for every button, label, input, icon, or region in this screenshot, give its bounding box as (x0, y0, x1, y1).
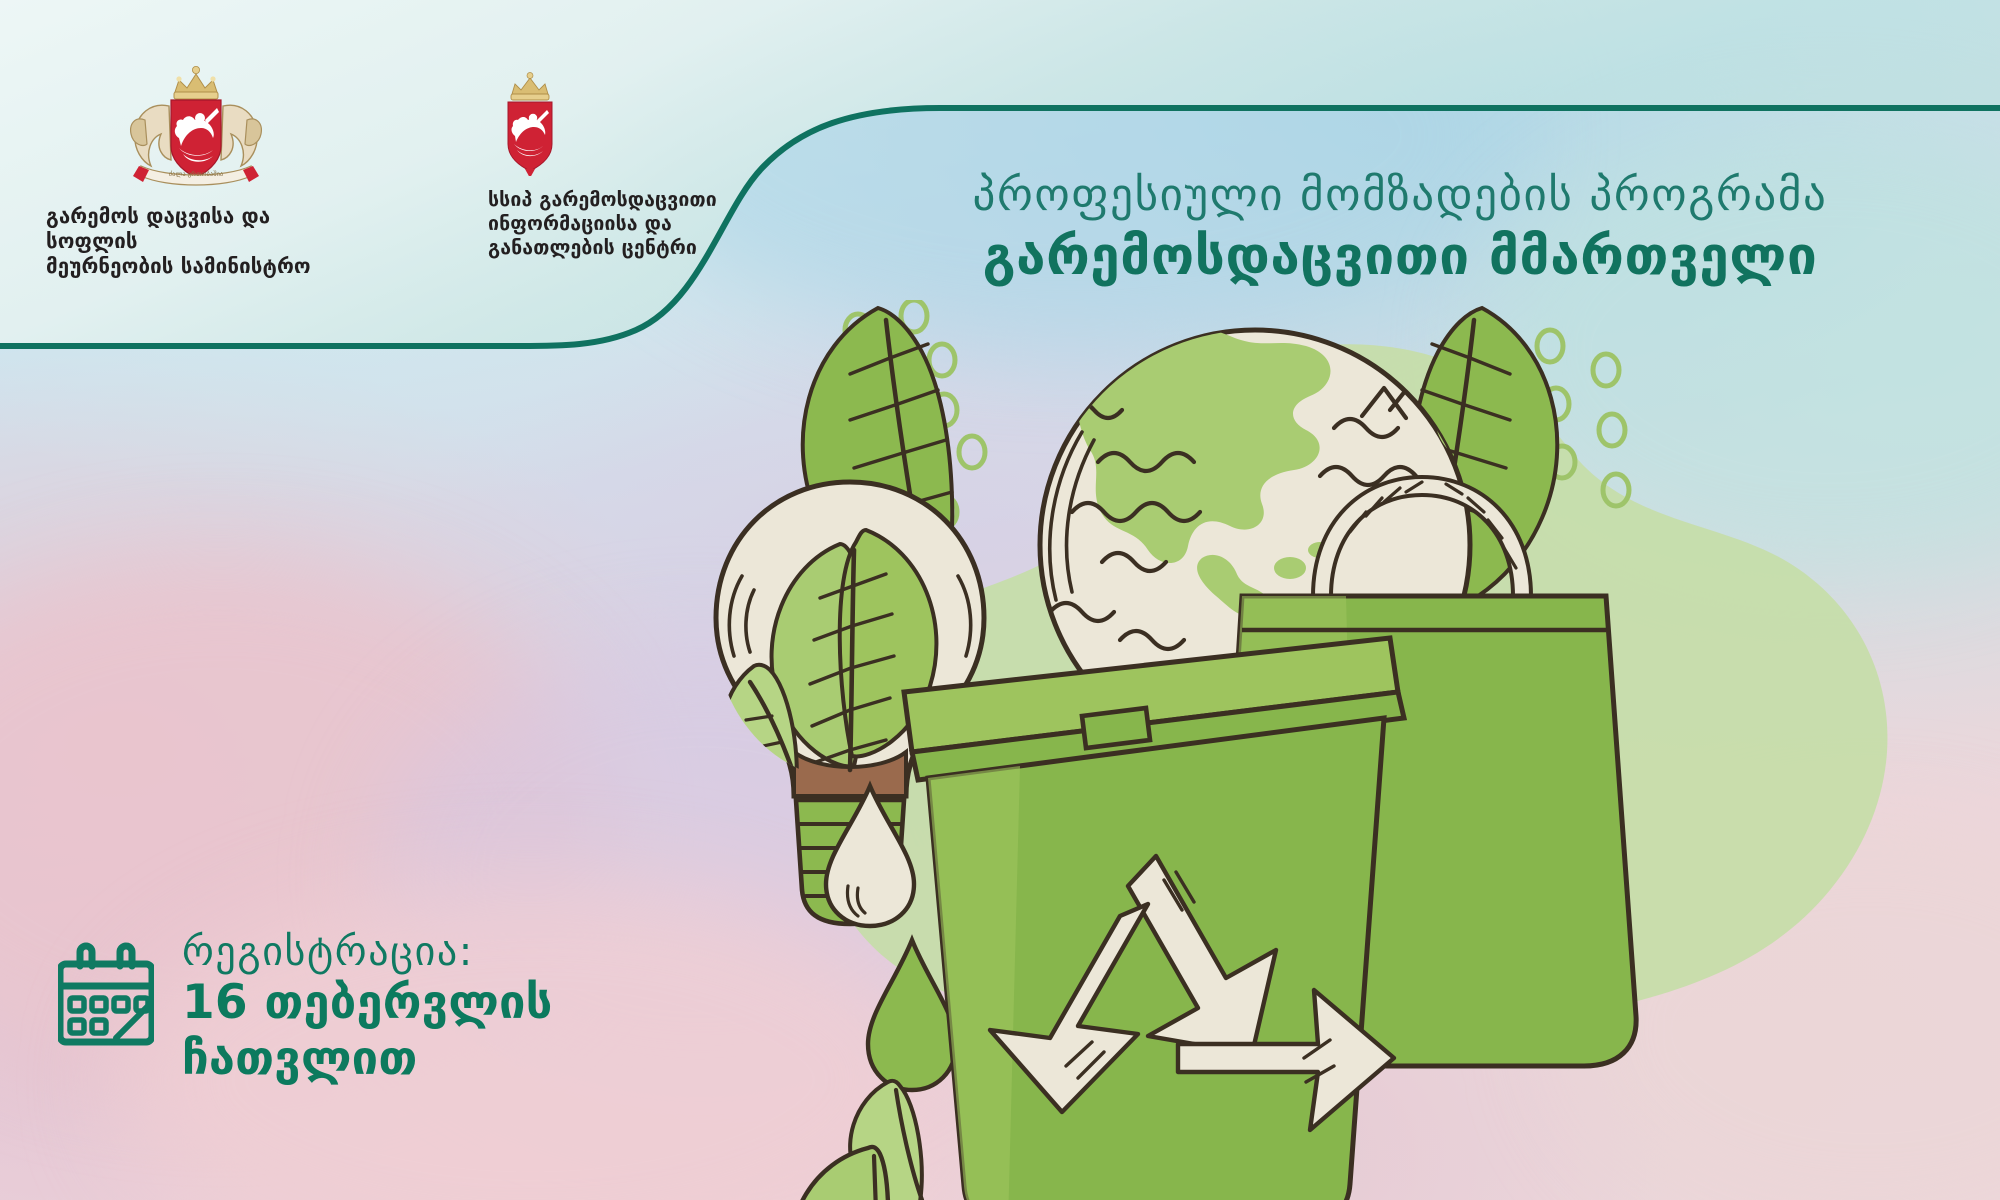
ministry-logo-line2: მეურნეობის სამინისტრო (46, 254, 346, 279)
registration-date-line2: ჩათვლით (182, 1032, 553, 1086)
georgia-coat-of-arms-icon: ძალა ერთობაშია (46, 62, 346, 190)
center-logo-block: სსიპ გარემოსდაცვითი ინფორმაციისა და განა… (488, 72, 838, 259)
registration-date-line1: 16 თებერვლის (182, 976, 553, 1030)
calendar-icon (58, 942, 154, 1050)
banner-root: ძალა ერთობაშია გარემოს დაცვისა და სოფლის… (0, 0, 2000, 1200)
ministry-logo-block: ძალა ერთობაშია გარემოს დაცვისა და სოფლის… (46, 62, 346, 279)
ministry-logo-line1: გარემოს დაცვისა და სოფლის (46, 204, 346, 254)
title-line-1: პროფესიული მომზადების პროგრამა (880, 170, 1920, 220)
svg-text:ძალა ერთობაშია: ძალა ერთობაშია (169, 169, 223, 178)
center-logo-text: სსიპ გარემოსდაცვითი ინფორმაციისა და განა… (488, 188, 838, 259)
title-line-2: გარემოსდაცვითი მმართველი (880, 226, 1920, 287)
center-logo-line1: სსიპ გარემოსდაცვითი (488, 188, 838, 212)
center-logo-line3: განათლების ცენტრი (488, 236, 838, 260)
registration-label: რეგისტრაცია: (182, 930, 553, 974)
center-logo-line2: ინფორმაციისა და (488, 212, 838, 236)
page-title: პროფესიული მომზადების პროგრამა გარემოსდა… (880, 170, 1920, 288)
leaf-icon-lower-left (791, 1147, 888, 1200)
ministry-logo-text: გარემოს დაცვისა და სოფლის მეურნეობის სამ… (46, 204, 346, 279)
registration-block: რეგისტრაცია: 16 თებერვლის ჩათვლით (58, 930, 553, 1085)
registration-text: რეგისტრაცია: 16 თებერვლის ჩათვლით (182, 930, 553, 1085)
recycle-bin-icon (904, 638, 1404, 1200)
illustration-group (690, 300, 2000, 1200)
georgia-small-crest-icon (488, 72, 838, 176)
